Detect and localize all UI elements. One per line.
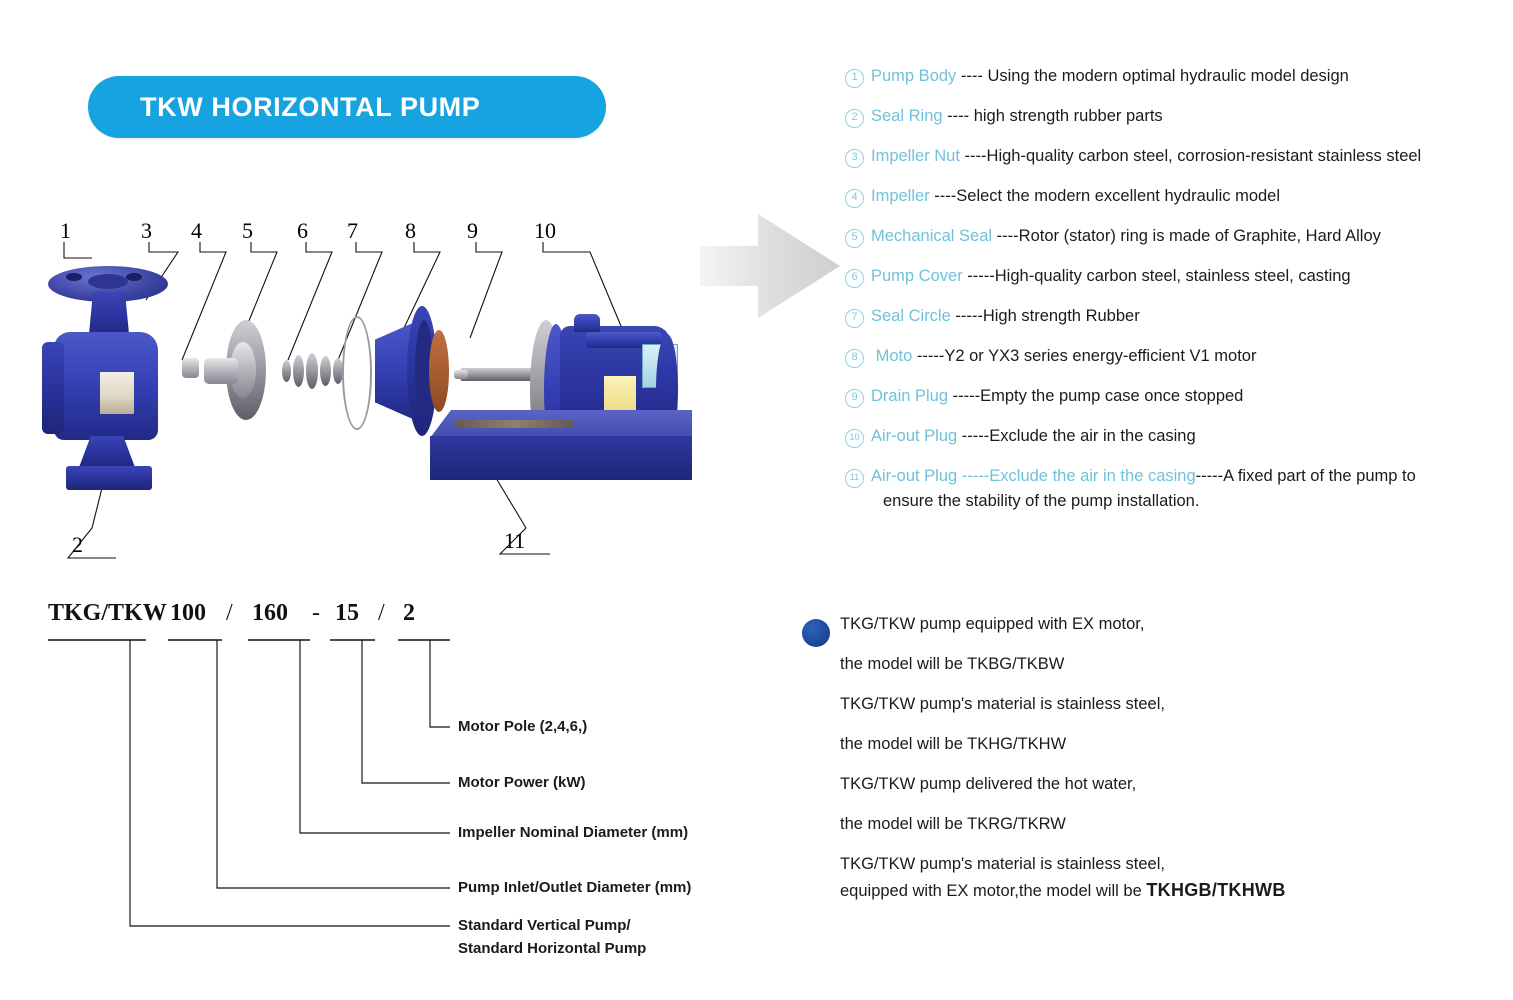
base-plate-illustration xyxy=(430,410,692,492)
seal-circle-oring xyxy=(342,316,372,430)
legend-number-icon: 3 xyxy=(845,149,864,168)
pump-nameplate xyxy=(100,372,134,414)
legend-item-5: 5 Mechanical Seal ----Rotor (stator) rin… xyxy=(845,226,1505,248)
legend-part-name: Mechanical Seal xyxy=(871,227,992,245)
model-note-line-8: equipped with EX motor,the model will be… xyxy=(840,880,1480,901)
legend-dash: ----- xyxy=(957,427,989,445)
model-note-line-3: TKG/TKW pump's material is stainless ste… xyxy=(840,695,1480,714)
legend-description: Y2 or YX3 series energy-efficient V1 mot… xyxy=(944,347,1256,365)
legend-dash: ---- xyxy=(960,147,987,165)
model-note-line-7: TKG/TKW pump's material is stainless ste… xyxy=(840,855,1480,874)
seal-ring-a xyxy=(282,360,291,382)
legend-description: High-quality carbon steel, corrosion-res… xyxy=(987,147,1422,165)
legend-part-name: Seal Ring xyxy=(871,107,943,125)
legend-part-name: Moto xyxy=(876,347,913,365)
model-note-line-4: the model will be TKHG/TKHW xyxy=(840,735,1480,754)
legend-description-cyan: Exclude the air in the casing xyxy=(989,467,1195,485)
nomenclature-leader-lines xyxy=(30,596,730,966)
legend-description: high strength rubber parts xyxy=(974,107,1163,125)
legend-number-icon: 10 xyxy=(845,429,864,448)
legend-item-6: 6 Pump Cover -----High-quality carbon st… xyxy=(845,266,1505,288)
legend-number-icon: 7 xyxy=(845,309,864,328)
model-note-last-prefix: equipped with EX motor,the model will be xyxy=(840,882,1146,900)
legend-part-name: Air-out Plug xyxy=(871,427,957,445)
legend-part-name: Impeller Nut xyxy=(871,147,960,165)
impeller-hub xyxy=(204,358,238,384)
legend-item-7: 7 Seal Circle -----High strength Rubber xyxy=(845,306,1505,328)
seal-ring-c xyxy=(306,353,318,389)
legend-dash: ----- xyxy=(957,467,989,485)
pump-base-foot xyxy=(66,466,152,490)
model-note-line-5: TKG/TKW pump delivered the hot water, xyxy=(840,775,1480,794)
nomenclature-label-motor-power: Motor Power (kW) xyxy=(458,774,586,791)
nomenclature-label-inlet-dia: Pump Inlet/Outlet Diameter (mm) xyxy=(458,879,691,896)
legend-part-name: Impeller xyxy=(871,187,930,205)
legend-dash: ---- xyxy=(930,187,957,205)
legend-description: Using the modern optimal hydraulic model… xyxy=(987,67,1348,85)
pump-flange-bore xyxy=(88,274,128,289)
legend-part-name: Air-out Plug xyxy=(871,467,957,485)
base-plate-front xyxy=(430,436,692,480)
legend-dash-2: ----- xyxy=(1196,467,1223,485)
legend-item-10: 10 Air-out Plug -----Exclude the air in … xyxy=(845,426,1505,448)
legend-number-icon: 9 xyxy=(845,389,864,408)
legend-number-icon: 2 xyxy=(845,109,864,128)
legend-item-11: 11 Air-out Plug -----Exclude the air in … xyxy=(845,466,1505,511)
legend-number-icon: 11 xyxy=(845,469,864,488)
impeller-illustration xyxy=(202,320,272,420)
legend-number-icon: 5 xyxy=(845,229,864,248)
pump-pedestal xyxy=(78,436,136,470)
legend-part-name: Pump Body xyxy=(871,67,956,85)
motor-shaft-tip xyxy=(454,370,468,379)
legend-part-name: Drain Plug xyxy=(871,387,948,405)
legend-item-4: 4 Impeller ----Select the modern excelle… xyxy=(845,186,1505,208)
legend-description: High strength Rubber xyxy=(983,307,1140,325)
legend-description: Select the modern excellent hydraulic mo… xyxy=(956,187,1280,205)
page-title-banner: TKW HORIZONTAL PUMP xyxy=(88,76,606,138)
model-variants-notes: TKG/TKW pump equipped with EX motor, the… xyxy=(840,615,1480,922)
model-note-line-2: the model will be TKBG/TKBW xyxy=(840,655,1480,674)
legend-dash: ----- xyxy=(951,307,983,325)
legend-number-icon: 6 xyxy=(845,269,864,288)
bullet-dot-icon xyxy=(802,619,830,647)
legend-description: Exclude the air in the casing xyxy=(989,427,1195,445)
legend-dash: ----- xyxy=(912,347,944,365)
pump-flange-holes xyxy=(66,273,82,281)
seal-ring-d xyxy=(320,356,331,386)
nomenclature-label-standard-horiz: Standard Horizontal Pump xyxy=(458,940,646,957)
legend-description: Rotor (stator) ring is made of Graphite,… xyxy=(1019,227,1381,245)
legend-dash: ---- xyxy=(992,227,1019,245)
pump-body-illustration xyxy=(40,260,190,490)
nomenclature-label-impeller-dia: Impeller Nominal Diameter (mm) xyxy=(458,824,688,841)
parts-legend-list: 1 Pump Body ---- Using the modern optima… xyxy=(845,66,1505,529)
model-note-line-1: TKG/TKW pump equipped with EX motor, xyxy=(840,615,1480,634)
page-title: TKW HORIZONTAL PUMP xyxy=(88,92,480,123)
legend-number-icon: 4 xyxy=(845,189,864,208)
legend-number-icon: 8 xyxy=(845,349,864,368)
motor-lifting-eye xyxy=(574,314,600,332)
impeller-nut-illustration xyxy=(182,358,199,378)
nomenclature-label-motor-pole: Motor Pole (2,4,6,) xyxy=(458,718,587,735)
seal-ring-b xyxy=(293,355,304,387)
legend-dash: ----- xyxy=(948,387,980,405)
pump-cover-wear-ring xyxy=(429,330,449,412)
legend-item-9: 9 Drain Plug -----Empty the pump case on… xyxy=(845,386,1505,408)
legend-description: Empty the pump case once stopped xyxy=(980,387,1243,405)
base-plate-rust-streak xyxy=(454,420,574,428)
section-arrow-icon xyxy=(700,212,840,320)
pump-flange-holes-2 xyxy=(126,273,142,281)
legend-item-11-line2: ensure the stability of the pump install… xyxy=(871,491,1416,512)
model-nomenclature-diagram: TKG/TKW 100 / 160 - 15 / 2 Motor Pole xyxy=(30,596,730,966)
legend-part-name: Seal Circle xyxy=(871,307,951,325)
nomenclature-label-standard-vert: Standard Vertical Pump/ xyxy=(458,917,631,934)
legend-dash: ----- xyxy=(963,267,995,285)
legend-description: A fixed part of the pump to xyxy=(1223,467,1416,485)
legend-number-icon: 1 xyxy=(845,69,864,88)
legend-item-3: 3 Impeller Nut ----High-quality carbon s… xyxy=(845,146,1505,168)
pump-suction-flange xyxy=(42,342,64,434)
model-note-line-6: the model will be TKRG/TKRW xyxy=(840,815,1480,834)
legend-item-1: 1 Pump Body ---- Using the modern optima… xyxy=(845,66,1505,88)
legend-item-2: 2 Seal Ring ---- high strength rubber pa… xyxy=(845,106,1505,128)
legend-dash: ---- xyxy=(956,67,987,85)
exploded-view-diagram: 1 3 4 5 6 7 8 9 10 2 11 xyxy=(30,210,690,570)
legend-item-8: 8 Moto -----Y2 or YX3 series energy-effi… xyxy=(845,346,1505,368)
model-note-last-model: TKHGB/TKHWB xyxy=(1146,880,1285,900)
legend-description: High-quality carbon steel, stainless ste… xyxy=(995,267,1351,285)
legend-dash: ---- xyxy=(943,107,974,125)
legend-part-name: Pump Cover xyxy=(871,267,963,285)
